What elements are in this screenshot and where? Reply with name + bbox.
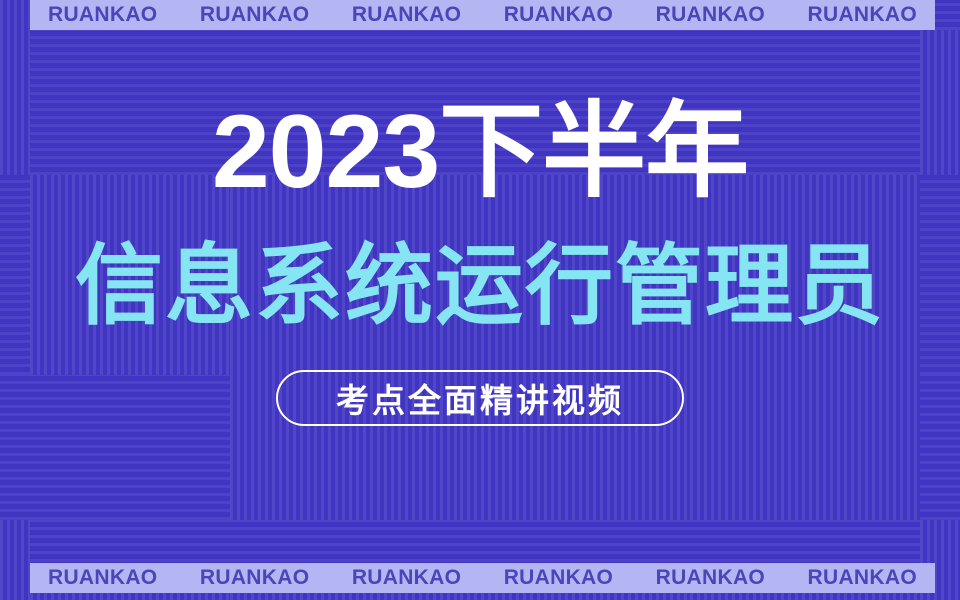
brand-marquee-top: RUANKAO RUANKAO RUANKAO RUANKAO RUANKAO … bbox=[30, 0, 935, 30]
brand-word: RUANKAO bbox=[656, 3, 765, 27]
page-subtitle: 信息系统运行管理员 bbox=[75, 242, 885, 330]
brand-word: RUANKAO bbox=[504, 566, 613, 590]
brand-word: RUANKAO bbox=[808, 566, 917, 590]
page-title: 2023下半年 bbox=[212, 100, 748, 204]
course-badge: 考点全面精讲视频 bbox=[276, 370, 684, 426]
brand-word: RUANKAO bbox=[656, 566, 765, 590]
brand-word: RUANKAO bbox=[504, 3, 613, 27]
brand-word: RUANKAO bbox=[48, 3, 157, 27]
brand-word: RUANKAO bbox=[200, 566, 309, 590]
brand-word: RUANKAO bbox=[352, 3, 461, 27]
brand-word: RUANKAO bbox=[352, 566, 461, 590]
brand-word: RUANKAO bbox=[48, 566, 157, 590]
course-badge-label: 考点全面精讲视频 bbox=[336, 374, 624, 422]
brand-marquee-bottom: RUANKAO RUANKAO RUANKAO RUANKAO RUANKAO … bbox=[30, 563, 935, 593]
course-poster: RUANKAO RUANKAO RUANKAO RUANKAO RUANKAO … bbox=[0, 0, 960, 600]
brand-word: RUANKAO bbox=[200, 3, 309, 27]
poster-content: 2023下半年 信息系统运行管理员 考点全面精讲视频 bbox=[0, 0, 960, 600]
brand-word: RUANKAO bbox=[808, 3, 917, 27]
